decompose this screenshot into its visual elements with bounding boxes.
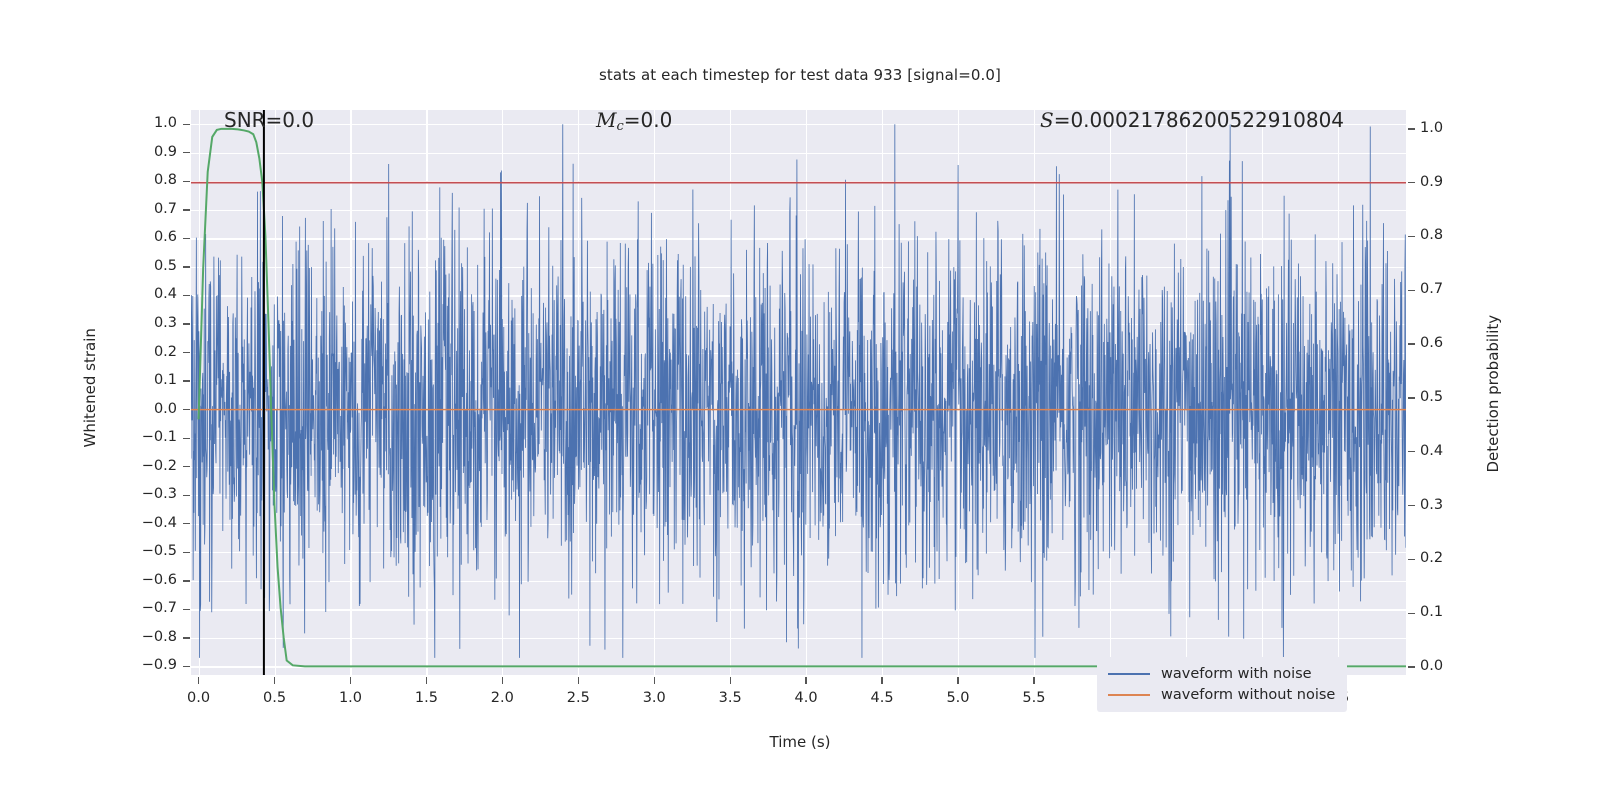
x-axis-label: Time (s) [0,733,1600,751]
y-tick-left [183,323,190,324]
y-tick-right [1408,182,1415,183]
annotation-score: S=0.00021786200522910804 [1040,110,1344,132]
chirp-mass-value: =0.0 [624,110,673,132]
y-tick-label-left: 0.8 [105,172,177,188]
legend-label-with-noise: waveform with noise [1161,666,1312,682]
y-tick-label-left: 0.9 [105,144,177,160]
y-tick-left [183,352,190,353]
y-tick-left [183,466,190,467]
series-container [191,110,1406,675]
y-tick-label-right: 1.0 [1420,120,1443,136]
y-tick-label-left: 0.6 [105,229,177,245]
y-tick-label-left: 0.0 [105,401,177,417]
y-tick-right [1408,666,1415,667]
y-tick-left [183,495,190,496]
y-tick-right [1408,128,1415,129]
y-tick-label-left: 0.3 [105,315,177,331]
y-tick-left [183,124,190,125]
legend-swatch-with-noise [1108,673,1150,675]
y-tick-left [183,238,190,239]
y-tick-label-left: −0.2 [105,458,177,474]
x-tick [578,677,579,684]
x-tick [881,677,882,684]
y-tick-label-right: 0.1 [1420,604,1443,620]
y-tick-left [183,552,190,553]
y-axis-label-left: Whitened strain [81,328,99,447]
y-tick-label-left: 0.4 [105,286,177,302]
y-tick-right [1408,290,1415,291]
chirp-mass-subscript: c [616,119,623,134]
score-symbol: S [1040,110,1054,132]
y-tick-left [183,609,190,610]
y-tick-label-right: 0.9 [1420,174,1443,190]
y-tick-left [183,637,190,638]
y-tick-label-left: 0.2 [105,344,177,360]
x-tick-label: 3.5 [690,690,770,706]
score-value: =0.00021786200522910804 [1054,110,1344,132]
x-tick-label: 5.0 [918,690,998,706]
x-tick [730,677,731,684]
legend-item-with-noise[interactable]: waveform with noise [1108,663,1335,684]
y-tick-label-right: 0.7 [1420,281,1443,297]
x-tick-label: 2.5 [538,690,618,706]
y-tick-right [1408,451,1415,452]
y-tick-label-right: 0.8 [1420,227,1443,243]
y-tick-label-right: 0.6 [1420,335,1443,351]
x-tick [654,677,655,684]
y-tick-label-right: 0.5 [1420,389,1443,405]
y-tick-right [1408,559,1415,560]
y-tick-label-left: 1.0 [105,115,177,131]
annotation-snr: SNR=0.0 [224,110,314,132]
y-tick-left [183,266,190,267]
x-tick-label: 3.0 [614,690,694,706]
y-tick-label-right: 0.4 [1420,443,1443,459]
y-tick-label-left: 0.1 [105,372,177,388]
plot-area: SNR=0.0 Mc=0.0 S=0.00021786200522910804 [191,110,1406,675]
y-tick-left [183,152,190,153]
x-tick-label: 0.5 [235,690,315,706]
x-tick [502,677,503,684]
legend[interactable]: waveform with noise waveform without noi… [1097,657,1347,712]
y-tick-right [1408,343,1415,344]
y-tick-left [183,580,190,581]
legend-item-without-noise[interactable]: waveform without noise [1108,684,1335,705]
x-tick-label: 1.0 [310,690,390,706]
y-tick-label-left: −0.7 [105,600,177,616]
x-tick [198,677,199,684]
y-tick-right [1408,236,1415,237]
y-tick-right [1408,397,1415,398]
x-tick [957,677,958,684]
y-tick-left [183,666,190,667]
x-tick [426,677,427,684]
y-tick-label-left: −0.8 [105,629,177,645]
y-tick-label-left: −0.1 [105,429,177,445]
annotation-chirp-mass: Mc=0.0 [596,110,672,134]
x-tick-label: 2.0 [462,690,542,706]
y-tick-left [183,523,190,524]
chirp-mass-symbol: M [596,110,616,132]
y-tick-label-right: 0.3 [1420,497,1443,513]
y-tick-label-left: 0.7 [105,201,177,217]
y-tick-left [183,409,190,410]
legend-swatch-without-noise [1108,694,1150,696]
y-tick-label-right: 0.2 [1420,550,1443,566]
x-tick [1033,677,1034,684]
y-tick-left [183,438,190,439]
x-tick [274,677,275,684]
legend-label-without-noise: waveform without noise [1161,687,1335,703]
y-tick-label-left: −0.3 [105,486,177,502]
figure: stats at each timestep for test data 933… [0,0,1600,800]
x-tick-label: 5.5 [994,690,1074,706]
y-axis-label-right: Detection probability [1484,315,1502,473]
x-tick-label: 0.0 [159,690,239,706]
y-tick-right [1408,613,1415,614]
y-tick-label-left: 0.5 [105,258,177,274]
y-tick-label-left: −0.6 [105,572,177,588]
x-tick-label: 4.0 [766,690,846,706]
y-tick-right [1408,505,1415,506]
x-tick-label: 4.5 [842,690,922,706]
waveform-with-noise-path [191,124,1406,658]
y-tick-label-left: −0.4 [105,515,177,531]
y-tick-label-left: −0.5 [105,543,177,559]
y-tick-label-right: 0.0 [1420,658,1443,674]
x-tick [350,677,351,684]
x-tick-label: 1.5 [386,690,466,706]
y-tick-left [183,181,190,182]
y-tick-left [183,295,190,296]
y-tick-left [183,209,190,210]
y-tick-label-left: −0.9 [105,657,177,673]
x-tick [805,677,806,684]
y-tick-left [183,380,190,381]
page-title: stats at each timestep for test data 933… [0,66,1600,84]
